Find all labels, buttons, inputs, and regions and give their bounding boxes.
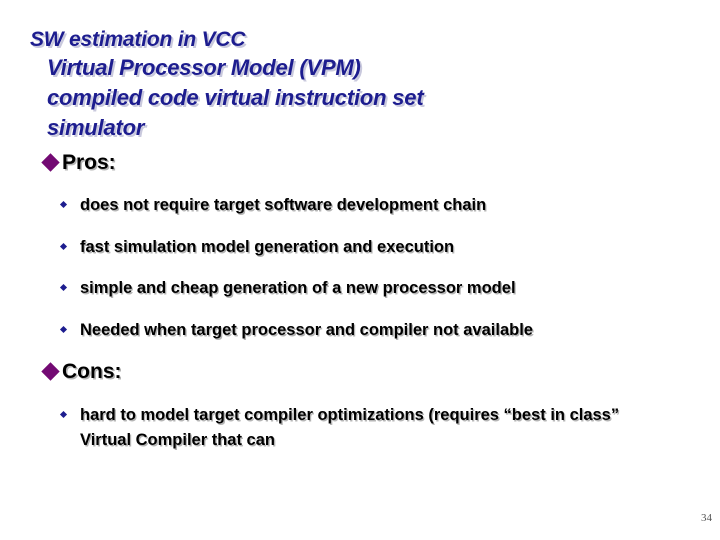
list-item-text: does not require target software develop… <box>80 193 486 219</box>
section-heading-cons: Cons: <box>0 359 720 384</box>
slide-canvas: SW estimation in VCC Virtual Processor M… <box>0 0 720 540</box>
spacer <box>0 179 720 193</box>
slide-title-line-1: Virtual Processor Model (VPM) <box>47 53 707 83</box>
list-item: fast simulation model generation and exe… <box>0 235 720 261</box>
small-diamond-bullet-icon <box>60 326 67 333</box>
slide-title-block: SW estimation in VCC Virtual Processor M… <box>0 0 720 152</box>
small-diamond-bullet-icon <box>60 284 67 291</box>
list-item-text: hard to model target compiler optimizati… <box>80 403 645 454</box>
list-item-text: fast simulation model generation and exe… <box>80 235 454 261</box>
slide-title-line-3: simulator <box>47 113 707 143</box>
slide-title-main: Virtual Processor Model (VPM) compiled c… <box>47 53 707 143</box>
section-heading-pros: Pros: <box>0 150 720 175</box>
slide-body: Pros: does not require target software d… <box>0 150 720 470</box>
section-heading-cons-label: Cons: <box>62 359 122 384</box>
list-item: hard to model target compiler optimizati… <box>0 403 720 454</box>
small-diamond-bullet-icon <box>60 243 67 250</box>
slide-title-kicker: SW estimation in VCC <box>30 29 245 51</box>
pros-list: does not require target software develop… <box>0 193 720 343</box>
cons-list: hard to model target compiler optimizati… <box>0 403 720 454</box>
section-heading-pros-label: Pros: <box>62 150 116 175</box>
page-number: 34 <box>701 512 712 524</box>
list-item-text: simple and cheap generation of a new pro… <box>80 276 516 302</box>
list-item-text: Needed when target processor and compile… <box>80 318 533 344</box>
small-diamond-bullet-icon <box>60 201 67 208</box>
list-item: does not require target software develop… <box>0 193 720 219</box>
spacer <box>0 389 720 403</box>
list-item: simple and cheap generation of a new pro… <box>0 276 720 302</box>
diamond-bullet-icon <box>41 363 59 381</box>
small-diamond-bullet-icon <box>60 411 67 418</box>
diamond-bullet-icon <box>41 153 59 171</box>
list-item: Needed when target processor and compile… <box>0 318 720 344</box>
slide-title-line-2: compiled code virtual instruction set <box>47 83 707 113</box>
